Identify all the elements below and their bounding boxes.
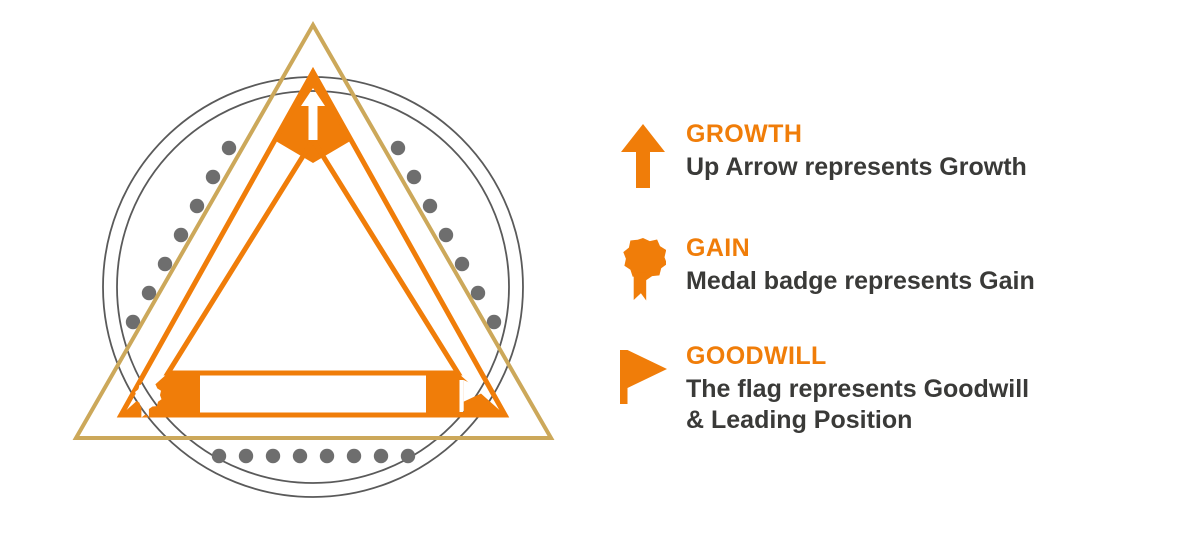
ring-dot (407, 170, 421, 184)
ring-dot (266, 449, 280, 463)
legend-text-goodwill: GOODWILL The flag represents Goodwill & … (686, 340, 1029, 437)
ring-dot (222, 141, 236, 155)
logo-mark-svg (0, 0, 600, 548)
legend-item-goodwill: GOODWILL The flag represents Goodwill & … (600, 340, 1029, 437)
up-arrow-icon (600, 118, 686, 190)
ring-dot (439, 228, 453, 242)
ring-dot (391, 141, 405, 155)
legend-title-goodwill: GOODWILL (686, 342, 1029, 372)
legend-description-gain: Medal badge represents Gain (686, 266, 1035, 298)
ring-dot (239, 449, 253, 463)
ring-dot (158, 257, 172, 271)
ring-dot (401, 449, 415, 463)
legend-text-gain: GAIN Medal badge represents Gain (686, 232, 1035, 297)
legend-text-growth: GROWTH Up Arrow represents Growth (686, 118, 1027, 183)
legend-title-growth: GROWTH (686, 120, 1027, 150)
ring-dot (347, 449, 361, 463)
ring-dot (374, 449, 388, 463)
legend-item-gain: GAIN Medal badge represents Gain (600, 232, 1035, 304)
flag-icon-svg (615, 348, 671, 408)
orange-triangle-group (121, 72, 505, 415)
medal-badge-icon-svg (620, 236, 666, 304)
up-arrow-icon-svg (617, 122, 669, 190)
ring-dot (423, 199, 437, 213)
ring-dot (190, 199, 204, 213)
medal-badge-icon (600, 232, 686, 304)
logo-mark (0, 0, 600, 548)
ring-dot (320, 449, 334, 463)
ring-dot (471, 286, 485, 300)
ring-dot (293, 449, 307, 463)
legend-title-gain: GAIN (686, 234, 1035, 264)
legend: GROWTH Up Arrow represents Growth GAIN M… (600, 0, 1200, 548)
legend-description-goodwill: The flag represents Goodwill & Leading P… (686, 374, 1029, 437)
legend-description-growth: Up Arrow represents Growth (686, 152, 1027, 184)
ring-dot (455, 257, 469, 271)
flag-icon (600, 340, 686, 412)
legend-item-growth: GROWTH Up Arrow represents Growth (600, 118, 1027, 190)
ring-dot (206, 170, 220, 184)
ring-dot (212, 449, 226, 463)
logo-explainer-page: GROWTH Up Arrow represents Growth GAIN M… (0, 0, 1200, 548)
ring-dot (174, 228, 188, 242)
